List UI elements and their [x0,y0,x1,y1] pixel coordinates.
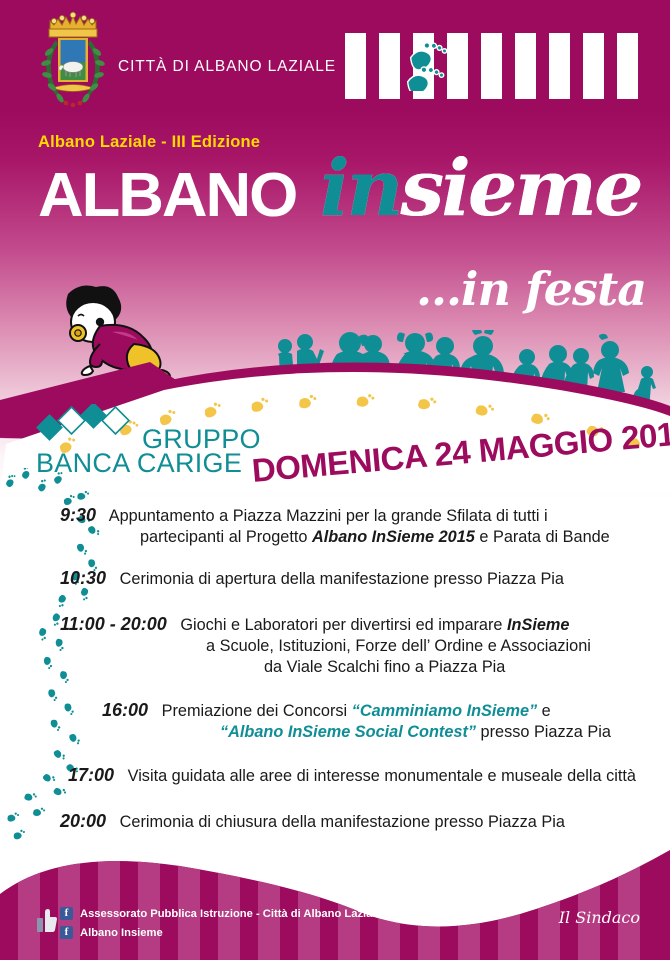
schedule-text: Cerimonia di chiusura della manifestazio… [120,813,565,831]
poster-header: CITTÀ DI ALBANO LAZIALE [0,0,670,115]
schedule-item: 10:30 Cerimonia di apertura della manife… [60,568,660,590]
schedule-item: 9:30 Appuntamento a Piazza Mazzini per l… [60,505,660,548]
schedule-time: 9:30 [60,505,96,525]
crosswalk-icon [345,33,645,99]
carige-diamonds-icon [36,404,146,446]
schedule-text: Giochi e Laboratori per divertirsi ed im… [180,616,507,634]
edition-label: Albano Laziale - III Edizione [38,133,260,152]
main-title: ALBANO insieme [0,152,670,267]
schedule-text: presso Piazza Pia [476,723,611,741]
schedule-time: 16:00 [102,700,148,720]
title-insieme-sieme: sieme [400,143,640,234]
schedule-contest-name: “Albano InSieme Social Contest” [220,723,476,741]
schedule-item: 16:00 Premiazione dei Concorsi “Camminia… [60,700,660,743]
title-albano: ALBANO [38,165,296,227]
title-subtitle: ...in festa [416,262,646,316]
schedule-item: 11:00 - 20:00 Giochi e Laboratori per di… [60,614,660,678]
coat-of-arms-icon [36,8,110,112]
social-row[interactable]: f Assessorato Pubblica Istruzione - Citt… [60,905,460,922]
social-row[interactable]: f Albano Insieme [60,924,460,941]
thumbs-up-icon [36,908,60,934]
schedule-item: 17:00 Visita guidata alle aree di intere… [60,765,660,787]
poster: CITTÀ DI ALBANO LAZIALE [0,0,670,960]
title-insieme: insieme [320,150,641,228]
facebook-icon: f [60,907,73,920]
schedule-text: partecipanti al Progetto [140,528,312,546]
schedule-text: da Viale Scalchi fino a Piazza Pia [264,658,505,676]
facebook-icon: f [60,926,73,939]
schedule-list: 9:30 Appuntamento a Piazza Mazzini per l… [60,505,660,847]
city-name: CITTÀ DI ALBANO LAZIALE [118,58,336,76]
schedule-text: Cerimonia di apertura della manifestazio… [120,570,564,588]
schedule-text: Premiazione dei Concorsi [162,702,352,720]
schedule-time: 20:00 [60,811,106,831]
schedule-time: 11:00 - 20:00 [60,614,167,634]
teal-footprints-icon [395,39,475,91]
schedule-contest-name: “Camminiamo InSieme” [352,702,537,720]
schedule-text: a Scuole, Istituzioni, Forze dell’ Ordin… [206,637,591,655]
social-label: Albano Insieme [80,927,163,939]
schedule-text: Visita guidata alle aree di interesse mo… [128,767,636,785]
social-label: Assessorato Pubblica Istruzione - Città … [80,908,382,920]
schedule-text: e Parata di Bande [475,528,610,546]
schedule-highlight: Albano InSieme 2015 [312,528,475,546]
schedule-time: 10:30 [60,568,106,588]
social-links: f Assessorato Pubblica Istruzione - Citt… [60,905,460,943]
mayor-signature: Il Sindaco [559,908,640,927]
schedule-time: 17:00 [68,765,114,785]
title-insieme-in: in [320,143,400,234]
schedule-item: 20:00 Cerimonia di chiusura della manife… [60,811,660,833]
schedule-text: Appuntamento a Piazza Mazzini per la gra… [109,507,548,525]
schedule-highlight: InSieme [507,616,569,634]
schedule-text: e [537,702,551,720]
